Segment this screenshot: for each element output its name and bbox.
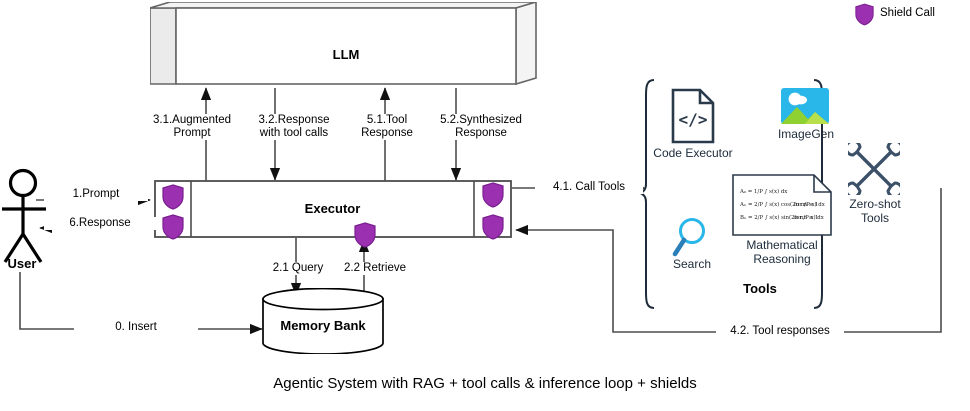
- memory-bank-label: Memory Bank: [262, 318, 384, 333]
- tool-code-executor-label: Code Executor: [646, 146, 740, 160]
- shield-icon: [354, 222, 376, 248]
- tool-math-reasoning-label: Mathematical Reasoning: [724, 238, 840, 266]
- edge-label-insert: 1.Prompt: [44, 188, 148, 201]
- edge-label-retrieve: 2.2 Retrieve: [330, 262, 420, 275]
- legend-label: Shield Call: [880, 7, 935, 19]
- shield-tool-out: [482, 182, 504, 208]
- tool-search[interactable]: [672, 216, 712, 258]
- shield-icon: [162, 214, 184, 240]
- edge-label-response-tool-calls: 3.2.Response with tool calls: [237, 114, 351, 140]
- tool-code-executor[interactable]: </>: [671, 88, 715, 144]
- code-document-icon: </>: [671, 88, 715, 144]
- legend-shield-icon-wrap: [855, 3, 874, 26]
- llm-node[interactable]: [150, 2, 540, 90]
- formula-document-icon: A₀ = 1/P ∫ s(x) dx Aₙ = 2/P ∫ s(x) cos(2…: [732, 174, 832, 236]
- shield-input-prompt: [162, 184, 184, 210]
- shield-tool-in: [482, 214, 504, 240]
- user-label: User: [0, 256, 44, 271]
- shield-icon: [482, 214, 504, 240]
- svg-text:for n ≥ 1: for n ≥ 1: [794, 215, 818, 221]
- diagram-canvas: User LLM Executor Memory Bank: [0, 0, 970, 411]
- executor-label: Executor: [191, 201, 474, 216]
- edge-label-call-tools: 4.1. Call Tools: [535, 181, 643, 194]
- shield-icon: [855, 3, 874, 26]
- edge-label-tool-response: 5.1.Tool Response: [343, 114, 431, 140]
- edge-label-tool-responses: 4.2. Tool responses: [716, 325, 844, 338]
- tool-imagegen-label: ImageGen: [761, 127, 851, 141]
- edge-label-response: 6.Response: [44, 217, 156, 230]
- edge-label-synthesized-response: 5.2.Synthesized Response: [427, 114, 535, 140]
- edge-label-query: 2.1 Query: [256, 262, 340, 275]
- magnifier-icon: [672, 216, 712, 258]
- tool-imagegen[interactable]: [781, 88, 829, 124]
- svg-text:</>: </>: [679, 110, 708, 129]
- tools-group-label: Tools: [700, 281, 820, 296]
- edge-label-0-insert: 0. Insert: [74, 321, 198, 334]
- shield-icon: [482, 182, 504, 208]
- tool-math-reasoning[interactable]: A₀ = 1/P ∫ s(x) dx Aₙ = 2/P ∫ s(x) cos(2…: [732, 174, 832, 236]
- svg-text:for n ≥ 1: for n ≥ 1: [794, 202, 818, 208]
- llm-label: LLM: [176, 47, 516, 62]
- svg-text:A₀ = 1/P ∫ s(x) dx: A₀ = 1/P ∫ s(x) dx: [739, 188, 787, 195]
- crossed-wrenches-icon: [848, 143, 900, 195]
- diagram-caption: Agentic System with RAG + tool calls & i…: [0, 375, 970, 392]
- tool-search-label: Search: [657, 257, 727, 271]
- shield-icon: [162, 184, 184, 210]
- cube-3d-shape: [150, 2, 540, 90]
- tool-zero-shot[interactable]: [848, 143, 900, 195]
- shield-memory: [354, 222, 376, 248]
- shield-input-response: [162, 214, 184, 240]
- image-icon: [781, 88, 829, 124]
- tool-zero-shot-label: Zero-shot Tools: [835, 197, 915, 225]
- edge-label-augmented-prompt: 3.1.Augmented Prompt: [141, 114, 243, 140]
